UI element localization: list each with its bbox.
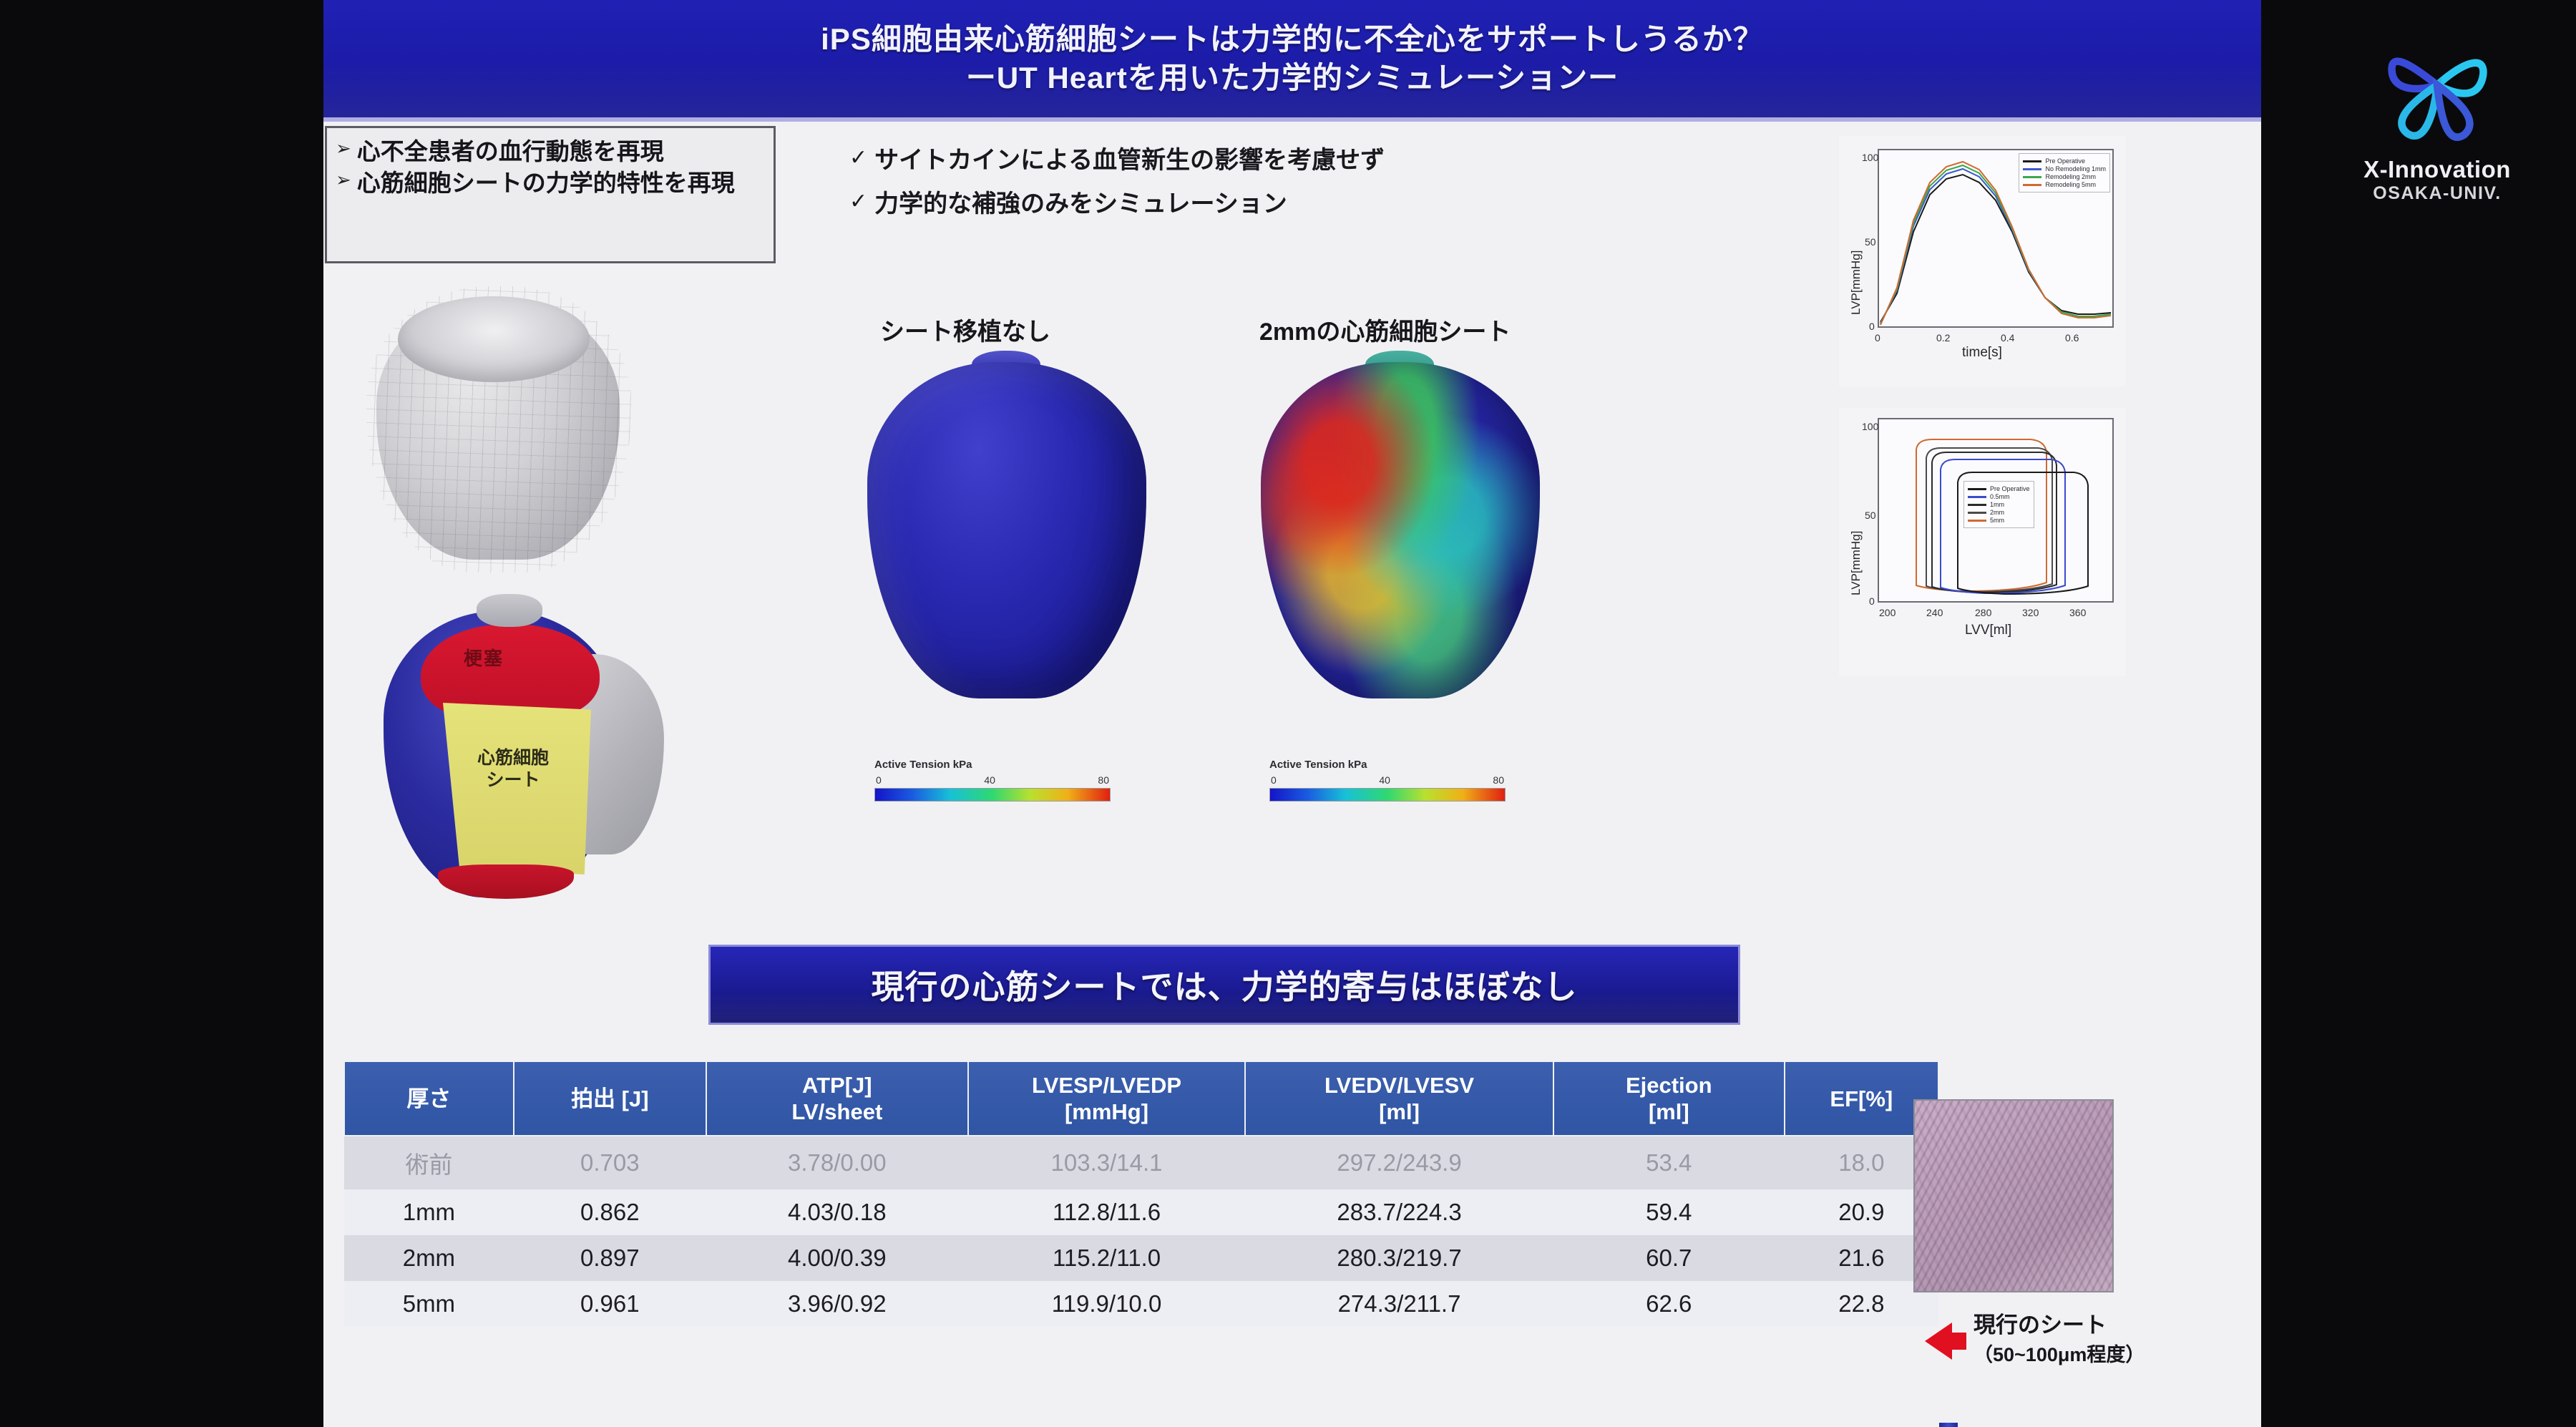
colorbar-title: Active Tension kPa — [874, 759, 1111, 771]
current-sheet-line2: （50~100μm程度） — [1974, 1344, 2145, 1365]
legend-label: Pre Operative — [2045, 157, 2085, 165]
chart1-xtick: 0.2 — [1936, 332, 1950, 344]
table-header-ejection: Ejection [ml] — [1553, 1061, 1785, 1136]
red-arrow-tail — [1951, 1333, 1966, 1350]
colorbar-gradient — [874, 788, 1111, 802]
current-sheet-line1: 現行のシート — [1974, 1311, 2145, 1340]
legend-entry: 5mm — [1968, 517, 2030, 524]
simulation-heart-with-sheet — [1231, 351, 1567, 723]
chart2-legend: Pre Operative 0.5mm 1mm 2mm — [1963, 481, 2034, 528]
corner-logo: X-Innovation OSAKA-UNIV. — [2310, 10, 2565, 246]
chart1-xtick: 0 — [1875, 332, 1880, 344]
header-line2: [mmHg] — [972, 1099, 1241, 1125]
legend-swatch — [1968, 488, 1986, 490]
cell-stroke-work: 0.961 — [514, 1281, 706, 1327]
cell-atp: 4.00/0.39 — [706, 1235, 968, 1281]
colorbar-no-sheet: Active Tension kPa 0 40 80 — [874, 759, 1111, 802]
legend-entry: 2mm — [1968, 509, 2030, 516]
knot-svg — [2362, 10, 2512, 160]
table-row: 2mm0.8974.00/0.39115.2/11.0280.3/219.760… — [344, 1235, 1938, 1281]
heart-apex-nub — [477, 594, 542, 627]
heart-mesh-cut-plane — [398, 296, 590, 382]
cell-lvedv-lvesv: 280.3/219.7 — [1245, 1235, 1553, 1281]
chart1-ytick: 0 — [1869, 321, 1875, 332]
chart2-xtick: 200 — [1879, 607, 1896, 618]
cell-lvesp-lvedp: 112.8/11.6 — [968, 1189, 1245, 1235]
cell-stroke-work: 0.862 — [514, 1189, 706, 1235]
condition-label: 力学的な補強のみをシミュレーション — [874, 184, 1287, 219]
legend-label: No Remodeling 1mm — [2045, 165, 2106, 172]
cell-atp: 4.03/0.18 — [706, 1189, 968, 1235]
slide-body: ➢ 心不全患者の血行動態を再現 ➢ 心筋細胞シートの力学的特性を再現 ✓ サイト… — [323, 122, 2261, 1427]
screenshot-root: iPS細胞由来心筋細胞シートは力学的に不全心をサポートしうるか？ ーUT Hea… — [0, 0, 2576, 1427]
chart2-xtick: 320 — [2022, 607, 2039, 618]
header-line2: [ml] — [1249, 1099, 1550, 1125]
chart2-ytick: 100 — [1862, 421, 1878, 432]
colorbar-ticks: 0 40 80 — [874, 774, 1111, 786]
logo-org: OSAKA-UNIV. — [2373, 183, 2502, 204]
table-row: 5mm0.9613.96/0.92119.9/10.0274.3/211.762… — [344, 1281, 1938, 1327]
check-icon: ✓ — [849, 145, 867, 170]
legend-label: 2mm — [1990, 509, 2004, 516]
sheet-patch-label: 心筋細胞 シート — [452, 747, 574, 792]
chart2-xtick: 360 — [2069, 607, 2086, 618]
legend-swatch — [2023, 176, 2041, 178]
colorbar-tick: 80 — [1493, 774, 1504, 786]
table-header-atp: ATP[J] LV/sheet — [706, 1061, 968, 1136]
cell-lvedv-lvesv: 274.3/211.7 — [1245, 1281, 1553, 1327]
legend-entry: Pre Operative — [2023, 157, 2106, 165]
legend-entry: Remodeling 2mm — [2023, 173, 2106, 180]
table-header-lvedv-lvesv: LVEDV/LVESV [ml] — [1245, 1061, 1553, 1136]
presentation-slide: iPS細胞由来心筋細胞シートは力学的に不全心をサポートしうるか？ ーUT Hea… — [323, 0, 2261, 1427]
legend-swatch — [2023, 168, 2041, 170]
sheet-patch-label-line1: 心筋細胞 — [452, 747, 574, 769]
conclusion-text: 現行の心筋シートでは、力学的寄与はほぼなし — [872, 961, 1578, 1008]
cell-thickness: 2mm — [344, 1235, 514, 1281]
conditions-list: ✓ サイトカインによる血管新生の影響を考慮せず ✓ 力学的な補強のみをシミュレー… — [849, 140, 1794, 228]
assumptions-box: ➢ 心不全患者の血行動態を再現 ➢ 心筋細胞シートの力学的特性を再現 — [325, 126, 776, 263]
legend-swatch — [2023, 160, 2041, 162]
legend-label: 1mm — [1990, 501, 2004, 508]
legend-swatch — [1968, 496, 1986, 498]
legend-entry: No Remodeling 1mm — [2023, 165, 2106, 172]
colorbar-gradient — [1269, 788, 1506, 802]
chart2-plot-area: Pre Operative 0.5mm 1mm 2mm — [1878, 418, 2114, 603]
header-line1: 厚さ — [348, 1086, 510, 1112]
cell-lvedv-lvesv: 297.2/243.9 — [1245, 1136, 1553, 1189]
current-sheet-annotation: 現行のシート （50~100μm程度） — [1974, 1311, 2145, 1368]
tissue-micrograph — [1913, 1099, 2114, 1292]
results-table: 厚さ 拍出 [J] ATP[J] LV/sheet LVESP/LVEDP [m… — [343, 1061, 1939, 1327]
header-line1: LVEDV/LVESV — [1249, 1072, 1550, 1099]
legend-entry: Pre Operative — [1968, 485, 2030, 492]
colorbar-ticks: 0 40 80 — [1269, 774, 1506, 786]
table-row: 1mm0.8624.03/0.18112.8/11.6283.7/224.359… — [344, 1189, 1938, 1235]
x-innovation-knot-icon — [2362, 10, 2512, 160]
colorbar-tick: 40 — [1379, 774, 1390, 786]
letterbox-left — [0, 0, 323, 1427]
sheet-patch-label-line2: シート — [452, 769, 574, 792]
colorbar-tick: 0 — [876, 774, 882, 786]
cell-ejection: 60.7 — [1553, 1235, 1785, 1281]
red-arrow-icon — [1925, 1323, 1952, 1360]
table-header-lvesp-lvedp: LVESP/LVEDP [mmHg] — [968, 1061, 1245, 1136]
chart-lvp-time: LVP[mmHg] Pre Operative — [1839, 136, 2125, 386]
cell-thickness: 術前 — [344, 1136, 514, 1189]
cell-lvesp-lvedp: 103.3/14.1 — [968, 1136, 1245, 1189]
legend-entry: Remodeling 5mm — [2023, 181, 2106, 188]
colorbar-tick: 40 — [984, 774, 995, 786]
cell-lvedv-lvesv: 283.7/224.3 — [1245, 1189, 1553, 1235]
infarct-label: 梗塞 — [464, 644, 504, 671]
sim-heart-surface — [867, 362, 1146, 698]
chart2-xlabel: LVV[ml] — [1965, 623, 2011, 638]
header-line2: LV/sheet — [710, 1099, 965, 1125]
bullet-label: 心筋細胞シートの力学的特性を再現 — [357, 170, 735, 197]
legend-swatch — [1968, 512, 1986, 514]
check-icon: ✓ — [849, 189, 867, 214]
chart2-ylabel: LVP[mmHg] — [1849, 531, 1863, 595]
condition-item: ✓ 力学的な補強のみをシミュレーション — [849, 184, 1794, 219]
bullet-item: ➢ 心不全患者の血行動態を再現 — [336, 138, 766, 165]
results-table-head: 厚さ 拍出 [J] ATP[J] LV/sheet LVESP/LVEDP [m… — [344, 1061, 1938, 1136]
header-line2: [ml] — [1557, 1099, 1781, 1125]
heart-infarct-region-apex — [438, 865, 574, 899]
chart1-xtick: 0.6 — [2065, 332, 2079, 344]
condition-item: ✓ サイトカインによる血管新生の影響を考慮せず — [849, 140, 1794, 175]
cell-thickness: 1mm — [344, 1189, 514, 1235]
legend-label: Remodeling 2mm — [2045, 173, 2096, 180]
bullet-arrow-icon: ➢ — [336, 170, 351, 191]
cell-atp: 3.78/0.00 — [706, 1136, 968, 1189]
header-line1: LVESP/LVEDP — [972, 1072, 1241, 1099]
results-table-header-row: 厚さ 拍出 [J] ATP[J] LV/sheet LVESP/LVEDP [m… — [344, 1061, 1938, 1136]
table-row: 術前0.7033.78/0.00103.3/14.1297.2/243.953.… — [344, 1136, 1938, 1189]
cell-ejection: 53.4 — [1553, 1136, 1785, 1189]
heart-infarct-model: 梗塞 心筋細胞 シート — [376, 594, 677, 916]
chart1-legend: Pre Operative No Remodeling 1mm Remodeli… — [2019, 153, 2110, 193]
chart2-xtick: 280 — [1975, 607, 1991, 618]
legend-swatch — [1968, 504, 1986, 506]
results-table-body: 術前0.7033.78/0.00103.3/14.1297.2/243.953.… — [344, 1136, 1938, 1327]
table-header-stroke-work: 拍出 [J] — [514, 1061, 706, 1136]
chart1-ytick: 100 — [1862, 152, 1878, 163]
cell-lvesp-lvedp: 115.2/11.0 — [968, 1235, 1245, 1281]
condition-label: サイトカインによる血管新生の影響を考慮せず — [874, 140, 1385, 175]
legend-swatch — [2023, 184, 2041, 186]
chart1-xtick: 0.4 — [2001, 332, 2014, 344]
cell-ejection: 59.4 — [1553, 1189, 1785, 1235]
cell-thickness: 5mm — [344, 1281, 514, 1327]
colorbar-tick: 0 — [1271, 774, 1277, 786]
chart1-ylabel: LVP[mmHg] — [1849, 250, 1863, 315]
legend-entry: 1mm — [1968, 501, 2030, 508]
legend-label: 0.5mm — [1990, 493, 2010, 500]
cell-stroke-work: 0.703 — [514, 1136, 706, 1189]
chart-pv-loop: LVP[mmHg] Pre Operative — [1839, 408, 2125, 676]
legend-entry: 0.5mm — [1968, 493, 2030, 500]
legend-label: Remodeling 5mm — [2045, 181, 2096, 188]
cell-atp: 3.96/0.92 — [706, 1281, 968, 1327]
bullet-label: 心不全患者の血行動態を再現 — [357, 138, 664, 165]
caption-with-sheet: 2mmの心筋細胞シート — [1259, 312, 1511, 347]
colorbar-title: Active Tension kPa — [1269, 759, 1506, 771]
bullet-arrow-icon: ➢ — [336, 138, 351, 160]
conclusion-banner: 現行の心筋シートでは、力学的寄与はほぼなし — [708, 945, 1740, 1025]
chart2-xtick: 240 — [1926, 607, 1943, 618]
sim-heart-surface — [1261, 362, 1540, 698]
legend-swatch — [1968, 520, 1986, 522]
chart2-ytick: 0 — [1869, 595, 1875, 607]
table-header-thickness: 厚さ — [344, 1061, 514, 1136]
header-line1: Ejection — [1557, 1072, 1781, 1099]
caption-no-sheet: シート移植なし — [880, 312, 1050, 347]
slide-title-line-1: iPS細胞由来心筋細胞シートは力学的に不全心をサポートしうるか？ — [821, 20, 1764, 59]
slide-title-band: iPS細胞由来心筋細胞シートは力学的に不全心をサポートしうるか？ ーUT Hea… — [323, 0, 2261, 122]
chart1-ytick: 50 — [1865, 236, 1876, 248]
colorbar-tick: 80 — [1098, 774, 1109, 786]
cell-ejection: 62.6 — [1553, 1281, 1785, 1327]
header-line1: 拍出 [J] — [517, 1086, 703, 1112]
colorbar-with-sheet: Active Tension kPa 0 40 80 — [1269, 759, 1506, 802]
cell-lvesp-lvedp: 119.9/10.0 — [968, 1281, 1245, 1327]
legend-label: 5mm — [1990, 517, 2004, 524]
header-line1: ATP[J] — [710, 1072, 965, 1099]
simulation-heart-no-sheet — [837, 351, 1174, 723]
chart2-ytick: 50 — [1865, 510, 1876, 521]
chart1-plot-area: Pre Operative No Remodeling 1mm Remodeli… — [1878, 149, 2114, 328]
bullet-item: ➢ 心筋細胞シートの力学的特性を再現 — [336, 170, 766, 197]
heart-mesh-model — [366, 286, 631, 573]
chart1-xlabel: time[s] — [1962, 345, 2002, 361]
legend-label: Pre Operative — [1990, 485, 2030, 492]
blue-arrow-shaft — [1939, 1423, 1958, 1427]
cell-stroke-work: 0.897 — [514, 1235, 706, 1281]
slide-title-line-2: ーUT Heartを用いた力学的シミュレーションー — [966, 59, 1619, 97]
